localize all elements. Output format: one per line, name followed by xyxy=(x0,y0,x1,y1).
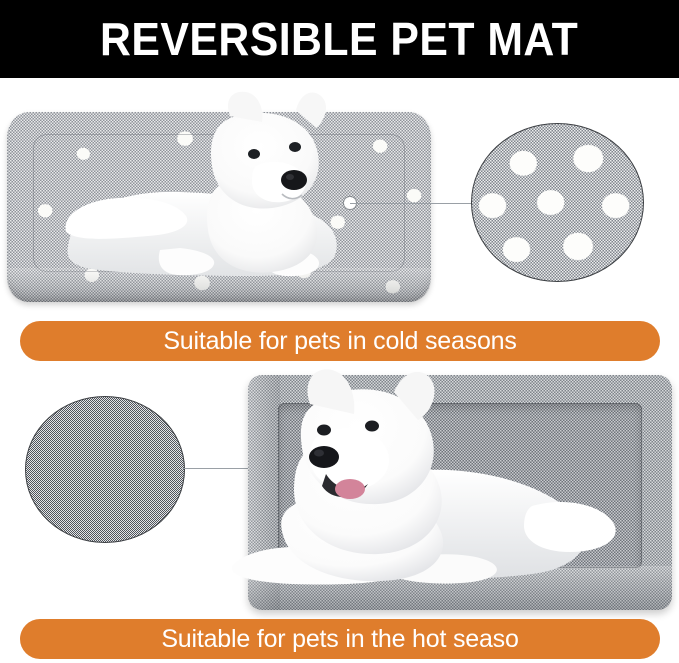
product-infographic: REVERSIBLE PET MAT xyxy=(0,0,679,663)
callout-connector-line-top xyxy=(350,203,472,204)
cold-season-banner: Suitable for pets in cold seasons xyxy=(20,321,660,361)
cold-season-banner-label: Suitable for pets in cold seasons xyxy=(163,329,516,354)
star-fabric-closeup xyxy=(471,123,644,282)
hot-season-banner-label: Suitable for pets in the hot seaso xyxy=(161,627,518,652)
hot-season-banner: Suitable for pets in the hot seaso xyxy=(20,619,660,659)
title-banner: REVERSIBLE PET MAT xyxy=(0,0,679,78)
samoyed-dog-hot-side xyxy=(232,356,642,606)
page-title: REVERSIBLE PET MAT xyxy=(100,16,578,62)
samoyed-dog-cold-side xyxy=(60,82,410,297)
woven-fabric-closeup xyxy=(25,396,185,543)
